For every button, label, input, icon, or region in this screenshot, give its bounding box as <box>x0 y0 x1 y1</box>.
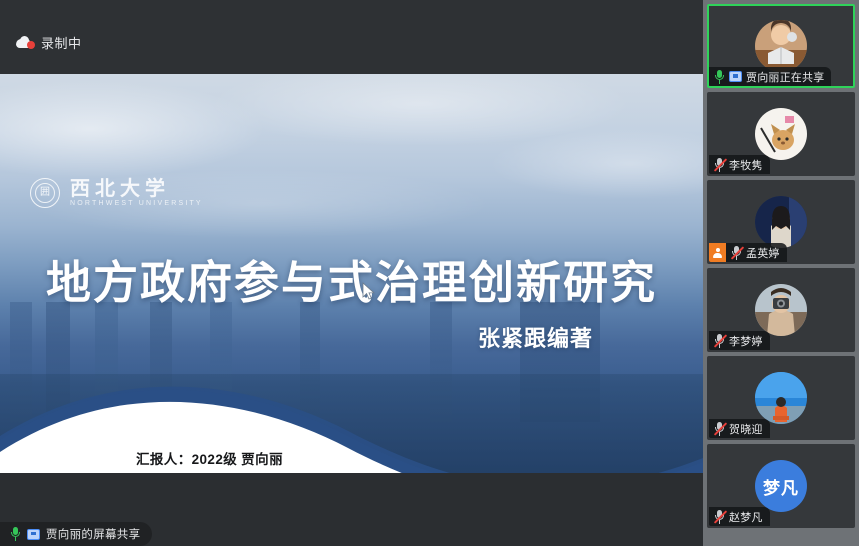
camera-selfie-avatar-icon <box>755 284 807 336</box>
participant-name-chip: 孟英婷 <box>709 243 787 262</box>
microphone-muted-icon <box>714 158 725 172</box>
presentation-slide[interactable]: 囲 西北大学 NORTHWEST UNIVERSITY 地方政府参与式治理创新研… <box>0 74 703 473</box>
participant-name: 赵梦凡 <box>729 509 763 525</box>
participant-name: 贺晓迎 <box>729 421 763 437</box>
cartoon-dog-avatar-icon <box>755 108 807 160</box>
microphone-muted-icon <box>714 334 725 348</box>
participant-name: 贾向丽正在共享 <box>746 69 824 85</box>
microphone-muted-icon <box>714 510 725 524</box>
avatar <box>755 284 807 336</box>
screen-share-icon <box>27 529 40 540</box>
participant-name-chip: 赵梦凡 <box>709 507 770 526</box>
avatar <box>755 108 807 160</box>
participant-tile[interactable]: 贾向丽正在共享 <box>707 4 855 88</box>
participant-name-chip: 贾向丽正在共享 <box>709 67 831 86</box>
microphone-muted-icon <box>731 246 742 260</box>
participant-tile[interactable]: 梦凡 赵梦凡 <box>707 444 855 528</box>
sky-person-avatar-icon <box>755 372 807 424</box>
slide-wave-shape <box>0 374 703 473</box>
participant-name: 孟英婷 <box>746 245 780 261</box>
recording-bar: 录制中 <box>0 0 703 74</box>
participant-tile[interactable]: 李梦婷 <box>707 268 855 352</box>
avatar-initials: 梦凡 <box>755 460 807 512</box>
microphone-muted-icon <box>714 422 725 436</box>
cloud-recording-icon <box>16 36 35 49</box>
participant-rail[interactable]: 贾向丽正在共享 <box>703 0 859 546</box>
reading-person-avatar-icon <box>755 20 807 72</box>
participant-tile[interactable]: 李牧隽 <box>707 92 855 176</box>
microphone-icon <box>10 527 21 541</box>
avatar <box>755 20 807 72</box>
microphone-icon <box>714 70 725 84</box>
host-badge <box>709 243 726 262</box>
slide-title: 地方政府参与式治理创新研究 <box>0 260 703 305</box>
university-seal-icon: 囲 <box>30 178 60 208</box>
share-status-label: 贾向丽的屏幕共享 <box>46 526 140 542</box>
screen-share-icon <box>729 71 742 82</box>
participant-name-chip: 李梦婷 <box>709 331 770 350</box>
university-name-en: NORTHWEST UNIVERSITY <box>70 200 203 207</box>
slide-presenter-line: 汇报人：2022级 贾向丽 <box>136 448 348 468</box>
shared-screen-stage: 录制中 囲 西北大学 NORTHWEST UNIVERSITY 地方政府参与式治… <box>0 0 703 546</box>
university-name-cn: 西北大学 <box>70 179 203 199</box>
participant-tile[interactable]: 贺晓迎 <box>707 356 855 440</box>
slide-meta-block: 汇报人：2022级 贾向丽 日期：2024年4月26日 <box>136 448 348 473</box>
stage-portrait-avatar-icon <box>755 196 807 248</box>
slide-author: 张紧跟编著 <box>478 321 593 353</box>
avatar <box>755 196 807 248</box>
recording-indicator: 录制中 <box>16 33 82 52</box>
participant-name-chip: 李牧隽 <box>709 155 770 174</box>
recording-label: 录制中 <box>41 33 82 52</box>
participant-name-chip: 贺晓迎 <box>709 419 770 438</box>
seal-glyph: 囲 <box>40 188 50 198</box>
meeting-window: 录制中 囲 西北大学 NORTHWEST UNIVERSITY 地方政府参与式治… <box>0 0 859 546</box>
university-logo: 囲 西北大学 NORTHWEST UNIVERSITY <box>30 178 203 208</box>
participant-name: 李牧隽 <box>729 157 763 173</box>
participant-name: 李梦婷 <box>729 333 763 349</box>
participant-tile[interactable]: 孟英婷 <box>707 180 855 264</box>
share-status-bar: 贾向丽的屏幕共享 <box>0 522 152 546</box>
avatar <box>755 372 807 424</box>
